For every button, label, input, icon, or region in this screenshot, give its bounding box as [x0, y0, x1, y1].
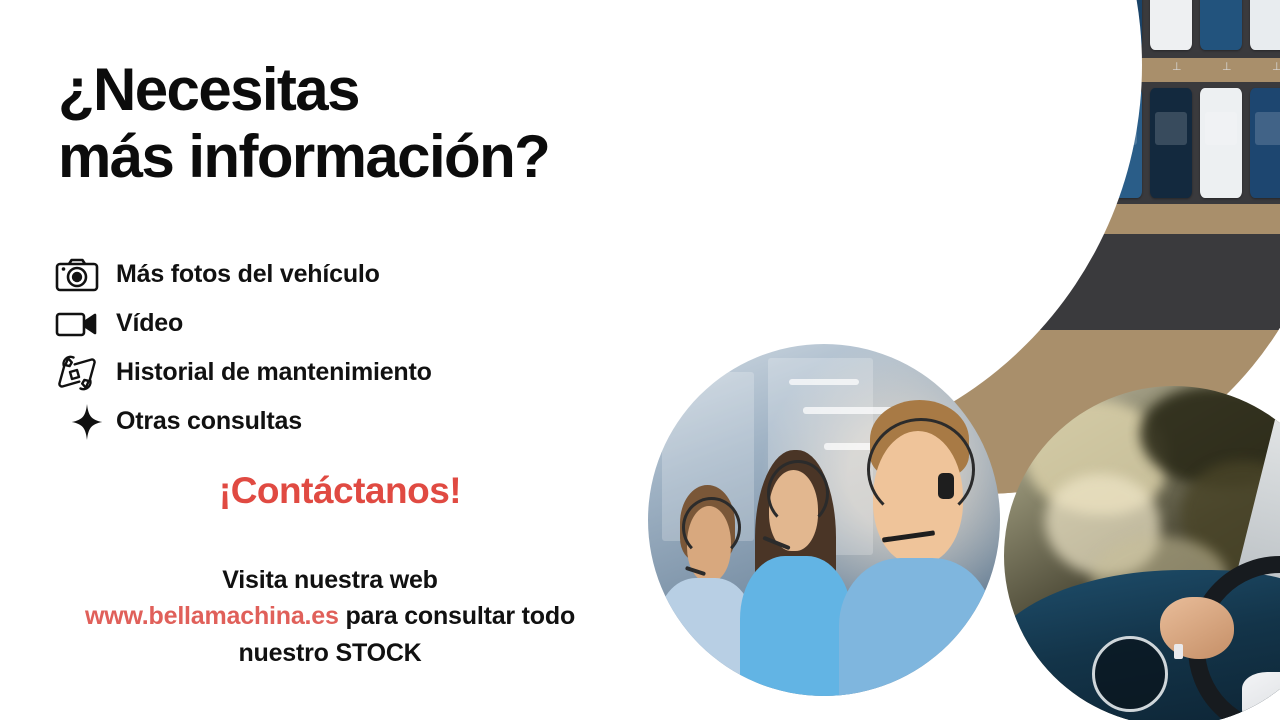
text-column: ¿Necesitas más información? Más fotos de… — [0, 0, 700, 720]
list-item: Vídeo — [52, 299, 652, 348]
list-item-label: Historial de mantenimiento — [116, 360, 432, 385]
website-line-3: nuestro STOCK — [0, 635, 660, 671]
website-line-1: Visita nuestra web — [0, 562, 660, 598]
list-item-label: Vídeo — [116, 311, 183, 336]
list-item: Otras consultas — [52, 397, 652, 446]
list-item-label: Más fotos del vehículo — [116, 262, 380, 287]
call-center-scene — [648, 344, 1000, 696]
call-center-photo — [648, 344, 1000, 696]
website-block: Visita nuestra web www.bellamachina.es p… — [0, 562, 660, 671]
website-url[interactable]: www.bellamachina.es — [85, 602, 339, 630]
driving-scene — [1004, 386, 1280, 720]
camera-icon — [52, 254, 102, 296]
page-title: ¿Necesitas más información? — [58, 56, 698, 190]
website-line-2: www.bellamachina.es para consultar todo — [0, 598, 660, 634]
wrench-tools-icon — [52, 352, 102, 394]
driving-photo — [1004, 386, 1280, 720]
website-line-2-rest: para consultar todo — [339, 602, 575, 630]
contact-cta: ¡Contáctanos! — [0, 470, 680, 512]
list-item: Historial de mantenimiento — [52, 348, 652, 397]
poster-canvas: + + + + + + + + + + + + + — [0, 0, 1280, 720]
benefits-list: Más fotos del vehículo Vídeo — [52, 250, 652, 446]
list-item-label: Otras consultas — [116, 409, 302, 434]
sparkle-icon — [65, 403, 110, 441]
list-item: Más fotos del vehículo — [52, 250, 652, 299]
video-camera-icon — [52, 303, 102, 345]
